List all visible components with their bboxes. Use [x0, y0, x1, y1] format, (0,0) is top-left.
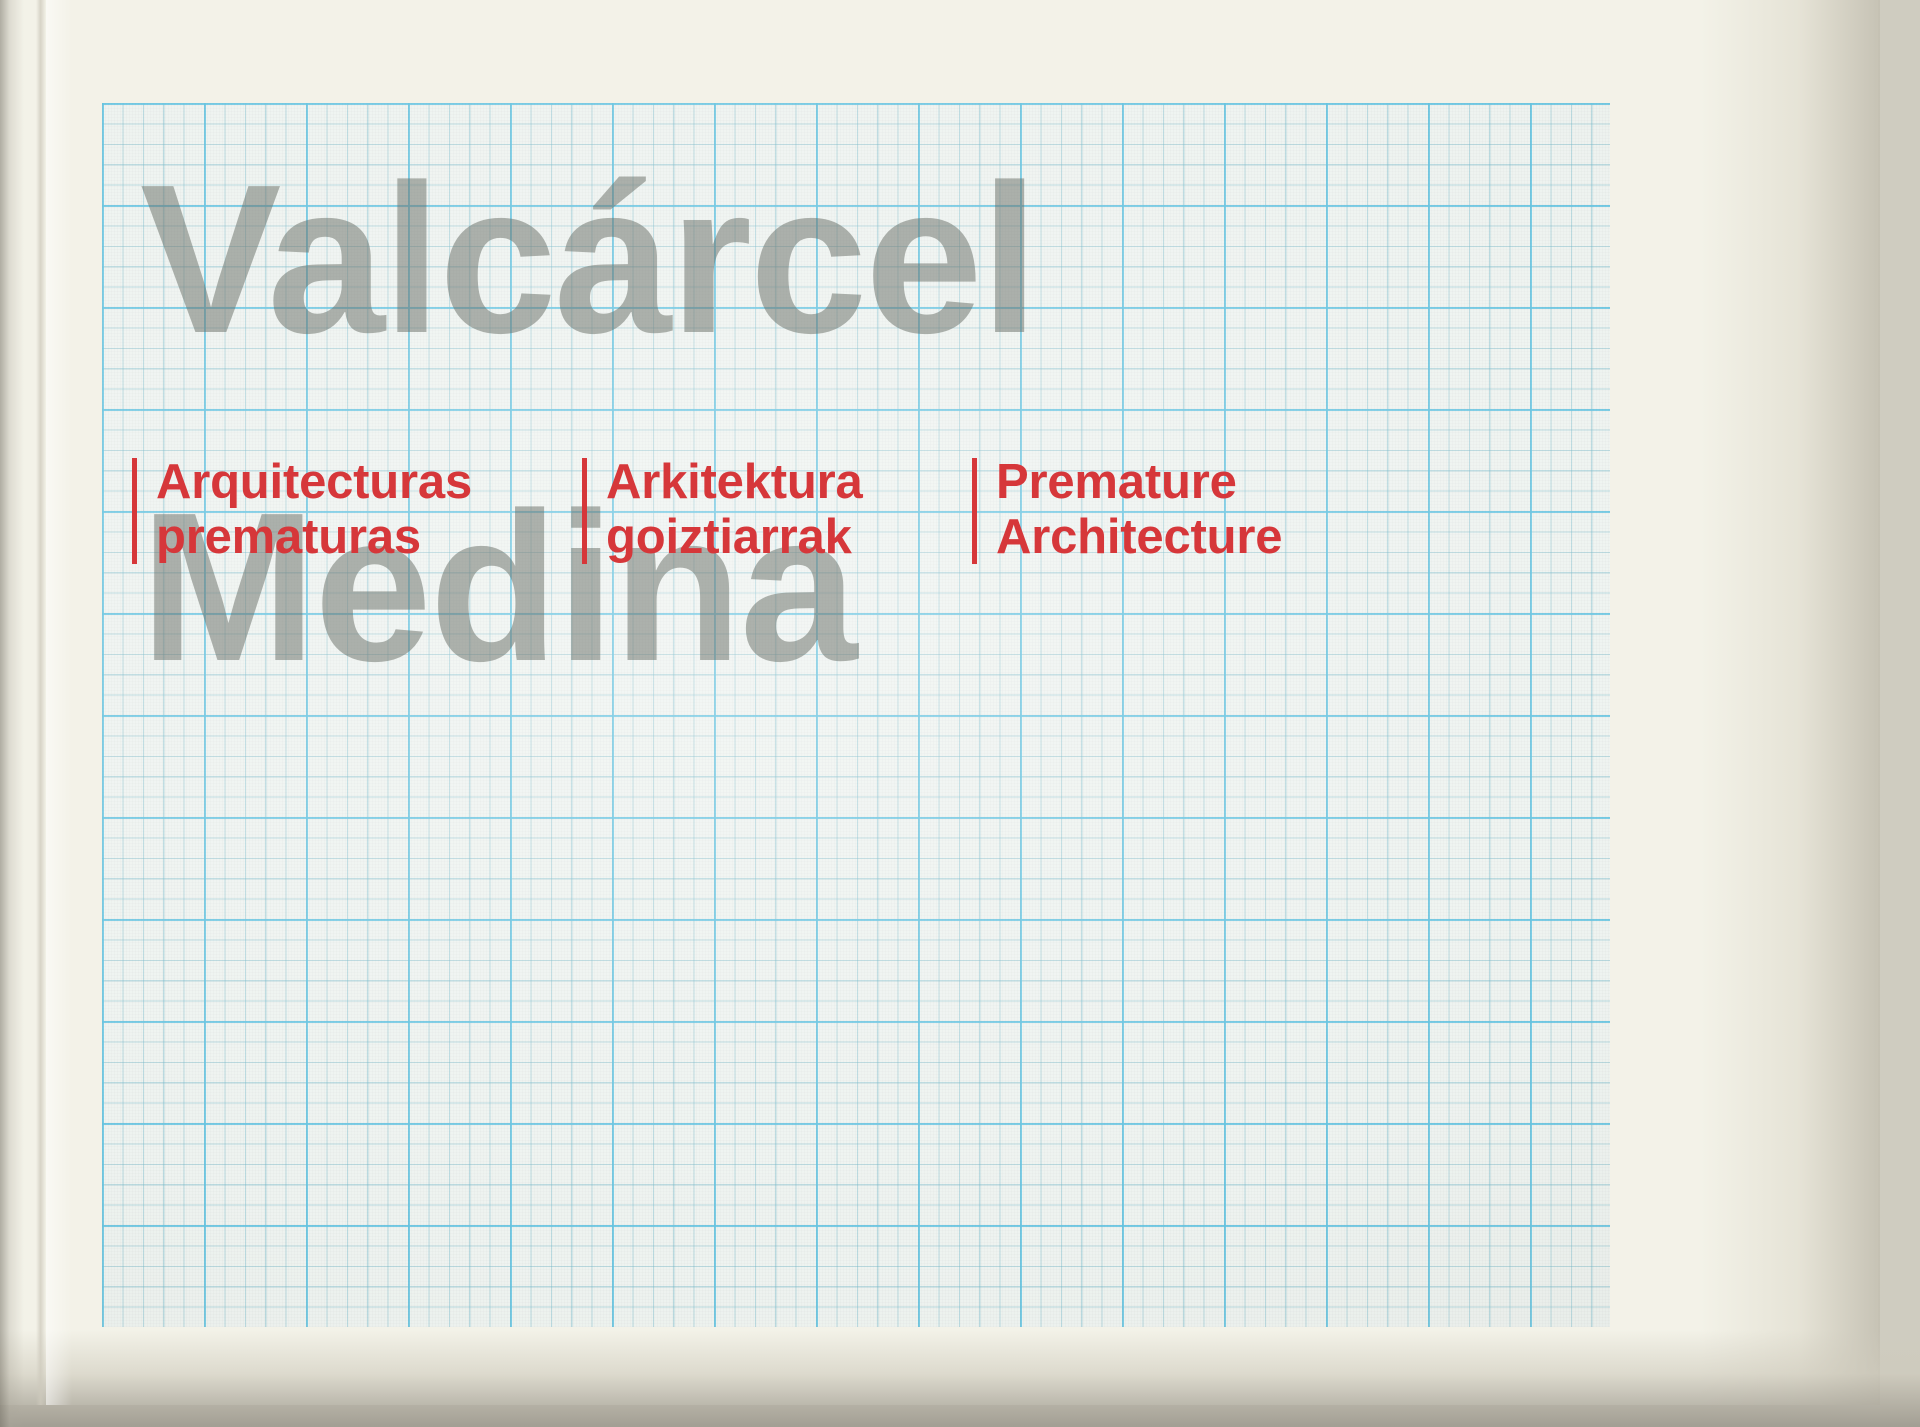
subtitle-basque: Arkitekturagoiztiarrak [606, 455, 863, 565]
title-line-valcarcel: Valcárcel [140, 168, 1037, 350]
subtitle-english: PrematureArchitecture [996, 455, 1282, 565]
subtitle-spanish-line-1: Arquitecturas [156, 455, 472, 509]
cover-typography: Valcárcel Medina Arquitecturasprematuras… [0, 0, 1920, 1427]
vertical-rule-icon [132, 458, 137, 564]
spine-crease-highlight [46, 0, 72, 1405]
subtitle-basque-line-2: goiztiarrak [606, 510, 852, 564]
subtitle-spanish-line-2: prematuras [156, 510, 421, 564]
subtitle-column-basque: Arkitekturagoiztiarrak [582, 455, 863, 565]
page-right-edge-shading [1700, 0, 1880, 1405]
vertical-rule-icon [972, 458, 977, 564]
subtitle-basque-line-1: Arkitektura [606, 455, 863, 509]
subtitle-english-line-1: Premature [996, 455, 1237, 509]
subtitle-spanish: Arquitecturasprematuras [156, 455, 472, 565]
subtitle-column-spanish: Arquitecturasprematuras [132, 455, 472, 565]
subtitle-english-line-2: Architecture [996, 510, 1282, 564]
spine-crease [36, 0, 46, 1405]
book-cover: Valcárcel Medina Arquitecturasprematuras… [0, 0, 1920, 1427]
vertical-rule-icon [582, 458, 587, 564]
cover-page: Valcárcel Medina Arquitecturasprematuras… [0, 0, 1878, 1405]
subtitle-column-english: PrematureArchitecture [972, 455, 1282, 565]
subtitle-language-row: Arquitecturasprematuras Arkitekturagoizt… [132, 455, 1612, 575]
spine-shadow [0, 0, 24, 1427]
page-bottom-edge-shading [0, 1330, 1920, 1427]
